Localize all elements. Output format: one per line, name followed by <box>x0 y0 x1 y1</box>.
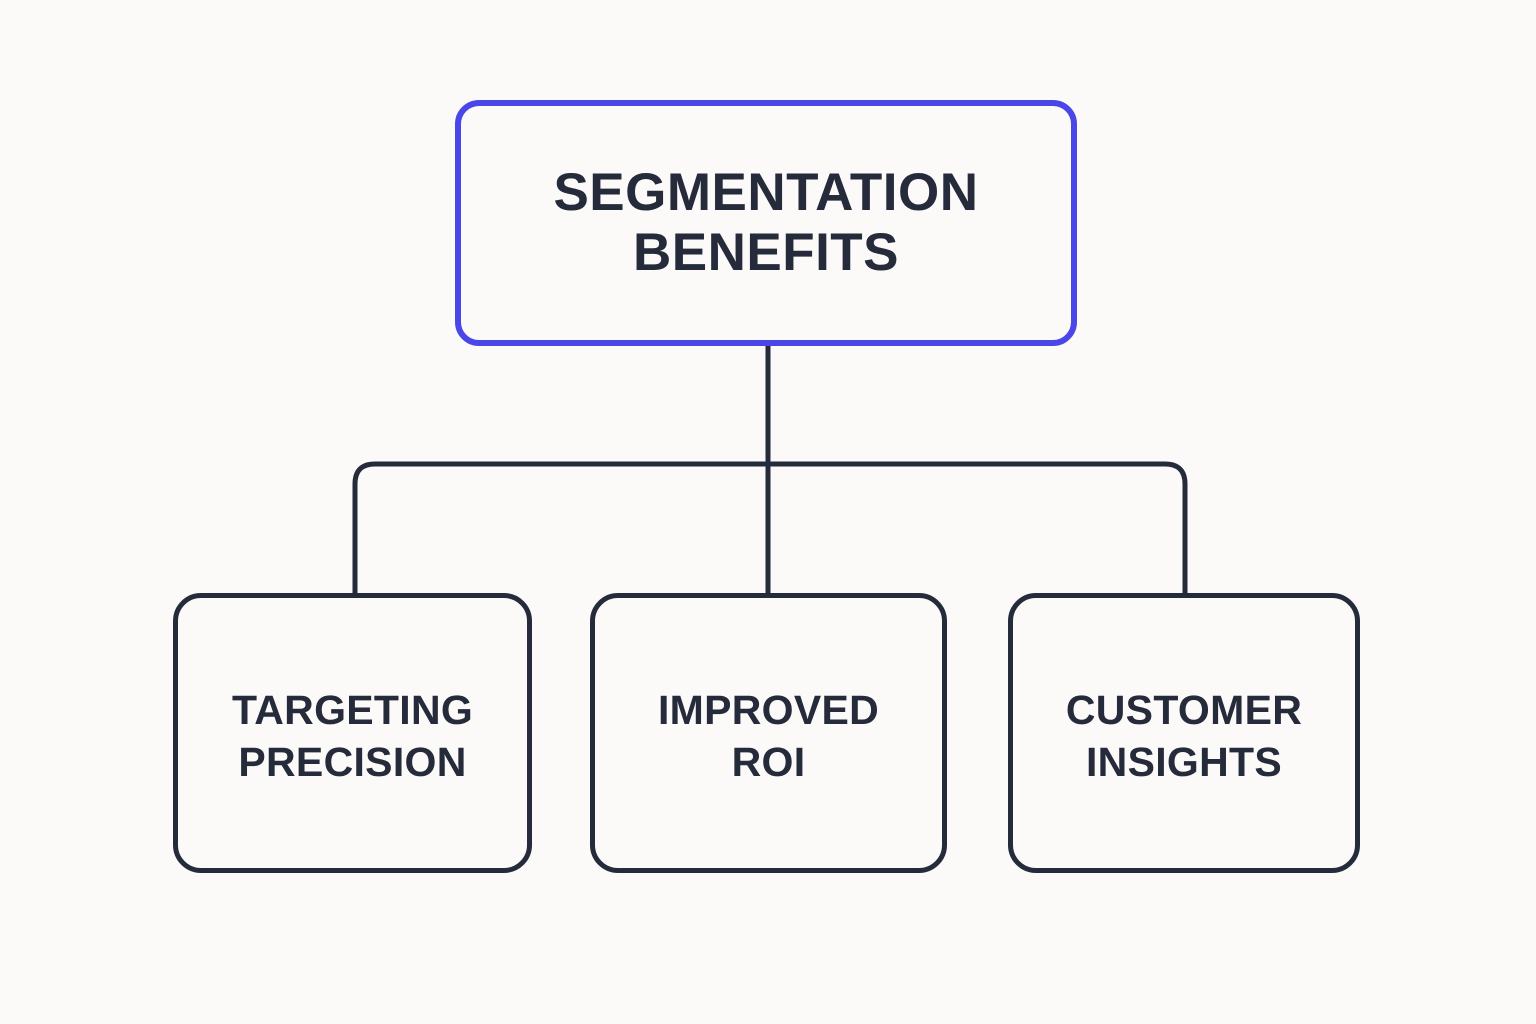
node-targeting-precision-label: TARGETING PRECISION <box>232 684 473 788</box>
node-improved-roi-label: IMPROVED ROI <box>658 684 879 788</box>
node-segmentation-benefits[interactable]: SEGMENTATION BENEFITS <box>455 100 1077 346</box>
node-customer-insights[interactable]: CUSTOMER INSIGHTS <box>1008 593 1360 873</box>
diagram-canvas: SEGMENTATION BENEFITS TARGETING PRECISIO… <box>0 0 1536 1024</box>
node-customer-insights-label: CUSTOMER INSIGHTS <box>1066 684 1302 788</box>
node-improved-roi[interactable]: IMPROVED ROI <box>590 593 947 873</box>
node-targeting-precision[interactable]: TARGETING PRECISION <box>173 593 532 873</box>
connector-bus-left <box>355 464 768 595</box>
connector-bus-right <box>768 464 1185 595</box>
node-root-label: SEGMENTATION BENEFITS <box>553 163 978 284</box>
